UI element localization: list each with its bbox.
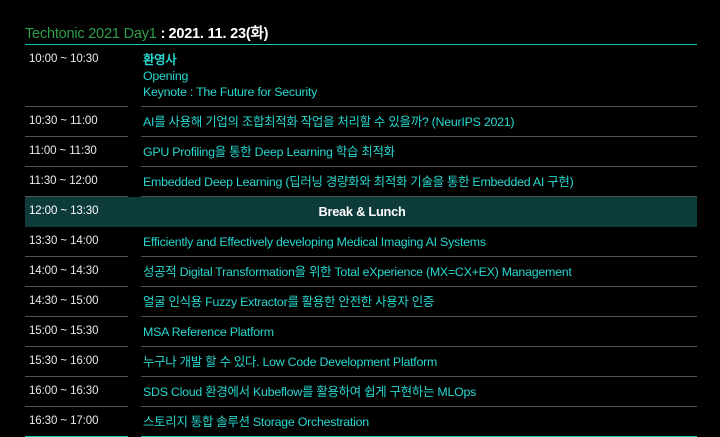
session-title-line: Break & Lunch [143, 204, 581, 220]
table-row[interactable]: 11:00 ~ 11:30GPU Profiling을 통한 Deep Lear… [25, 137, 697, 167]
session-title: SDS Cloud 환경에서 Kubeflow를 활용하여 쉽게 구현하는 ML… [141, 377, 697, 407]
session-title-line: 성공적 Digital Transformation을 위한 Total eXp… [143, 264, 697, 280]
table-row[interactable]: 13:30 ~ 14:00Efficiently and Effectively… [25, 227, 697, 257]
session-time: 16:30 ~ 17:00 [25, 407, 141, 436]
session-time: 13:30 ~ 14:00 [25, 227, 141, 256]
table-row[interactable]: 16:30 ~ 17:00스토리지 통합 솔루션 Storage Orchest… [25, 407, 697, 437]
session-time: 12:00 ~ 13:30 [25, 197, 141, 226]
session-title-line: SDS Cloud 환경에서 Kubeflow를 활용하여 쉽게 구현하는 ML… [143, 384, 697, 400]
session-title-line: 스토리지 통합 솔루션 Storage Orchestration [143, 414, 697, 430]
table-row[interactable]: 16:00 ~ 16:30SDS Cloud 환경에서 Kubeflow를 활용… [25, 377, 697, 407]
session-time: 10:00 ~ 10:30 [25, 45, 141, 74]
session-title-line: GPU Profiling을 통한 Deep Learning 학습 최적화 [143, 144, 697, 160]
session-title: 얼굴 인식용 Fuzzy Extractor를 활용한 안전한 사용자 인증 [141, 287, 697, 317]
session-title-line: 환영사 [143, 52, 697, 68]
session-title: GPU Profiling을 통한 Deep Learning 학습 최적화 [141, 137, 697, 167]
table-row[interactable]: 15:00 ~ 15:30MSA Reference Platform [25, 317, 697, 347]
session-time: 11:00 ~ 11:30 [25, 137, 141, 166]
session-title: Embedded Deep Learning (딥러닝 경량화와 최적화 기술을… [141, 167, 697, 197]
session-time: 14:00 ~ 14:30 [25, 257, 141, 286]
session-title-line: MSA Reference Platform [143, 324, 697, 340]
session-time: 15:30 ~ 16:00 [25, 347, 141, 376]
session-time: 15:00 ~ 15:30 [25, 317, 141, 346]
table-row[interactable]: 14:30 ~ 15:00얼굴 인식용 Fuzzy Extractor를 활용한… [25, 287, 697, 317]
session-title-line: AI를 사용해 기업의 조합최적화 작업을 처리할 수 있을까? (NeurIP… [143, 114, 697, 130]
session-title: 환영사OpeningKeynote : The Future for Secur… [141, 45, 697, 107]
session-title: AI를 사용해 기업의 조합최적화 작업을 처리할 수 있을까? (NeurIP… [141, 107, 697, 137]
table-row[interactable]: 10:30 ~ 11:00AI를 사용해 기업의 조합최적화 작업을 처리할 수… [25, 107, 697, 137]
table-row[interactable]: 15:30 ~ 16:00누구나 개발 할 수 있다. Low Code Dev… [25, 347, 697, 377]
table-row[interactable]: 12:00 ~ 13:30Break & Lunch [25, 197, 697, 227]
session-title-line: Opening [143, 68, 697, 84]
table-row[interactable]: 11:30 ~ 12:00Embedded Deep Learning (딥러닝… [25, 167, 697, 197]
session-title-line: Embedded Deep Learning (딥러닝 경량화와 최적화 기술을… [143, 174, 697, 190]
table-row[interactable]: 14:00 ~ 14:30성공적 Digital Transformation을… [25, 257, 697, 287]
session-time: 16:00 ~ 16:30 [25, 377, 141, 406]
session-title: MSA Reference Platform [141, 317, 697, 347]
event-name: Techtonic 2021 Day1 [25, 26, 157, 42]
table-row[interactable]: 10:00 ~ 10:30환영사OpeningKeynote : The Fut… [25, 45, 697, 107]
session-title: Break & Lunch [141, 197, 697, 227]
session-title-line: Efficiently and Effectively developing M… [143, 234, 697, 250]
session-time: 11:30 ~ 12:00 [25, 167, 141, 196]
session-title: 누구나 개발 할 수 있다. Low Code Development Plat… [141, 347, 697, 377]
title-separator: : [161, 26, 166, 42]
event-date: 2021. 11. 23(화) [168, 22, 268, 43]
session-title-line: 누구나 개발 할 수 있다. Low Code Development Plat… [143, 354, 697, 370]
schedule-page: Techtonic 2021 Day1 : 2021. 11. 23(화) 10… [0, 0, 720, 406]
page-title: Techtonic 2021 Day1 : 2021. 11. 23(화) [25, 22, 697, 42]
session-title: 스토리지 통합 솔루션 Storage Orchestration [141, 407, 697, 437]
schedule-table: 10:00 ~ 10:30환영사OpeningKeynote : The Fut… [25, 45, 697, 437]
session-title-line: Keynote : The Future for Security [143, 84, 697, 100]
session-title: Efficiently and Effectively developing M… [141, 227, 697, 257]
session-title-line: 얼굴 인식용 Fuzzy Extractor를 활용한 안전한 사용자 인증 [143, 294, 697, 310]
session-time: 10:30 ~ 11:00 [25, 107, 141, 136]
session-title: 성공적 Digital Transformation을 위한 Total eXp… [141, 257, 697, 287]
session-time: 14:30 ~ 15:00 [25, 287, 141, 316]
